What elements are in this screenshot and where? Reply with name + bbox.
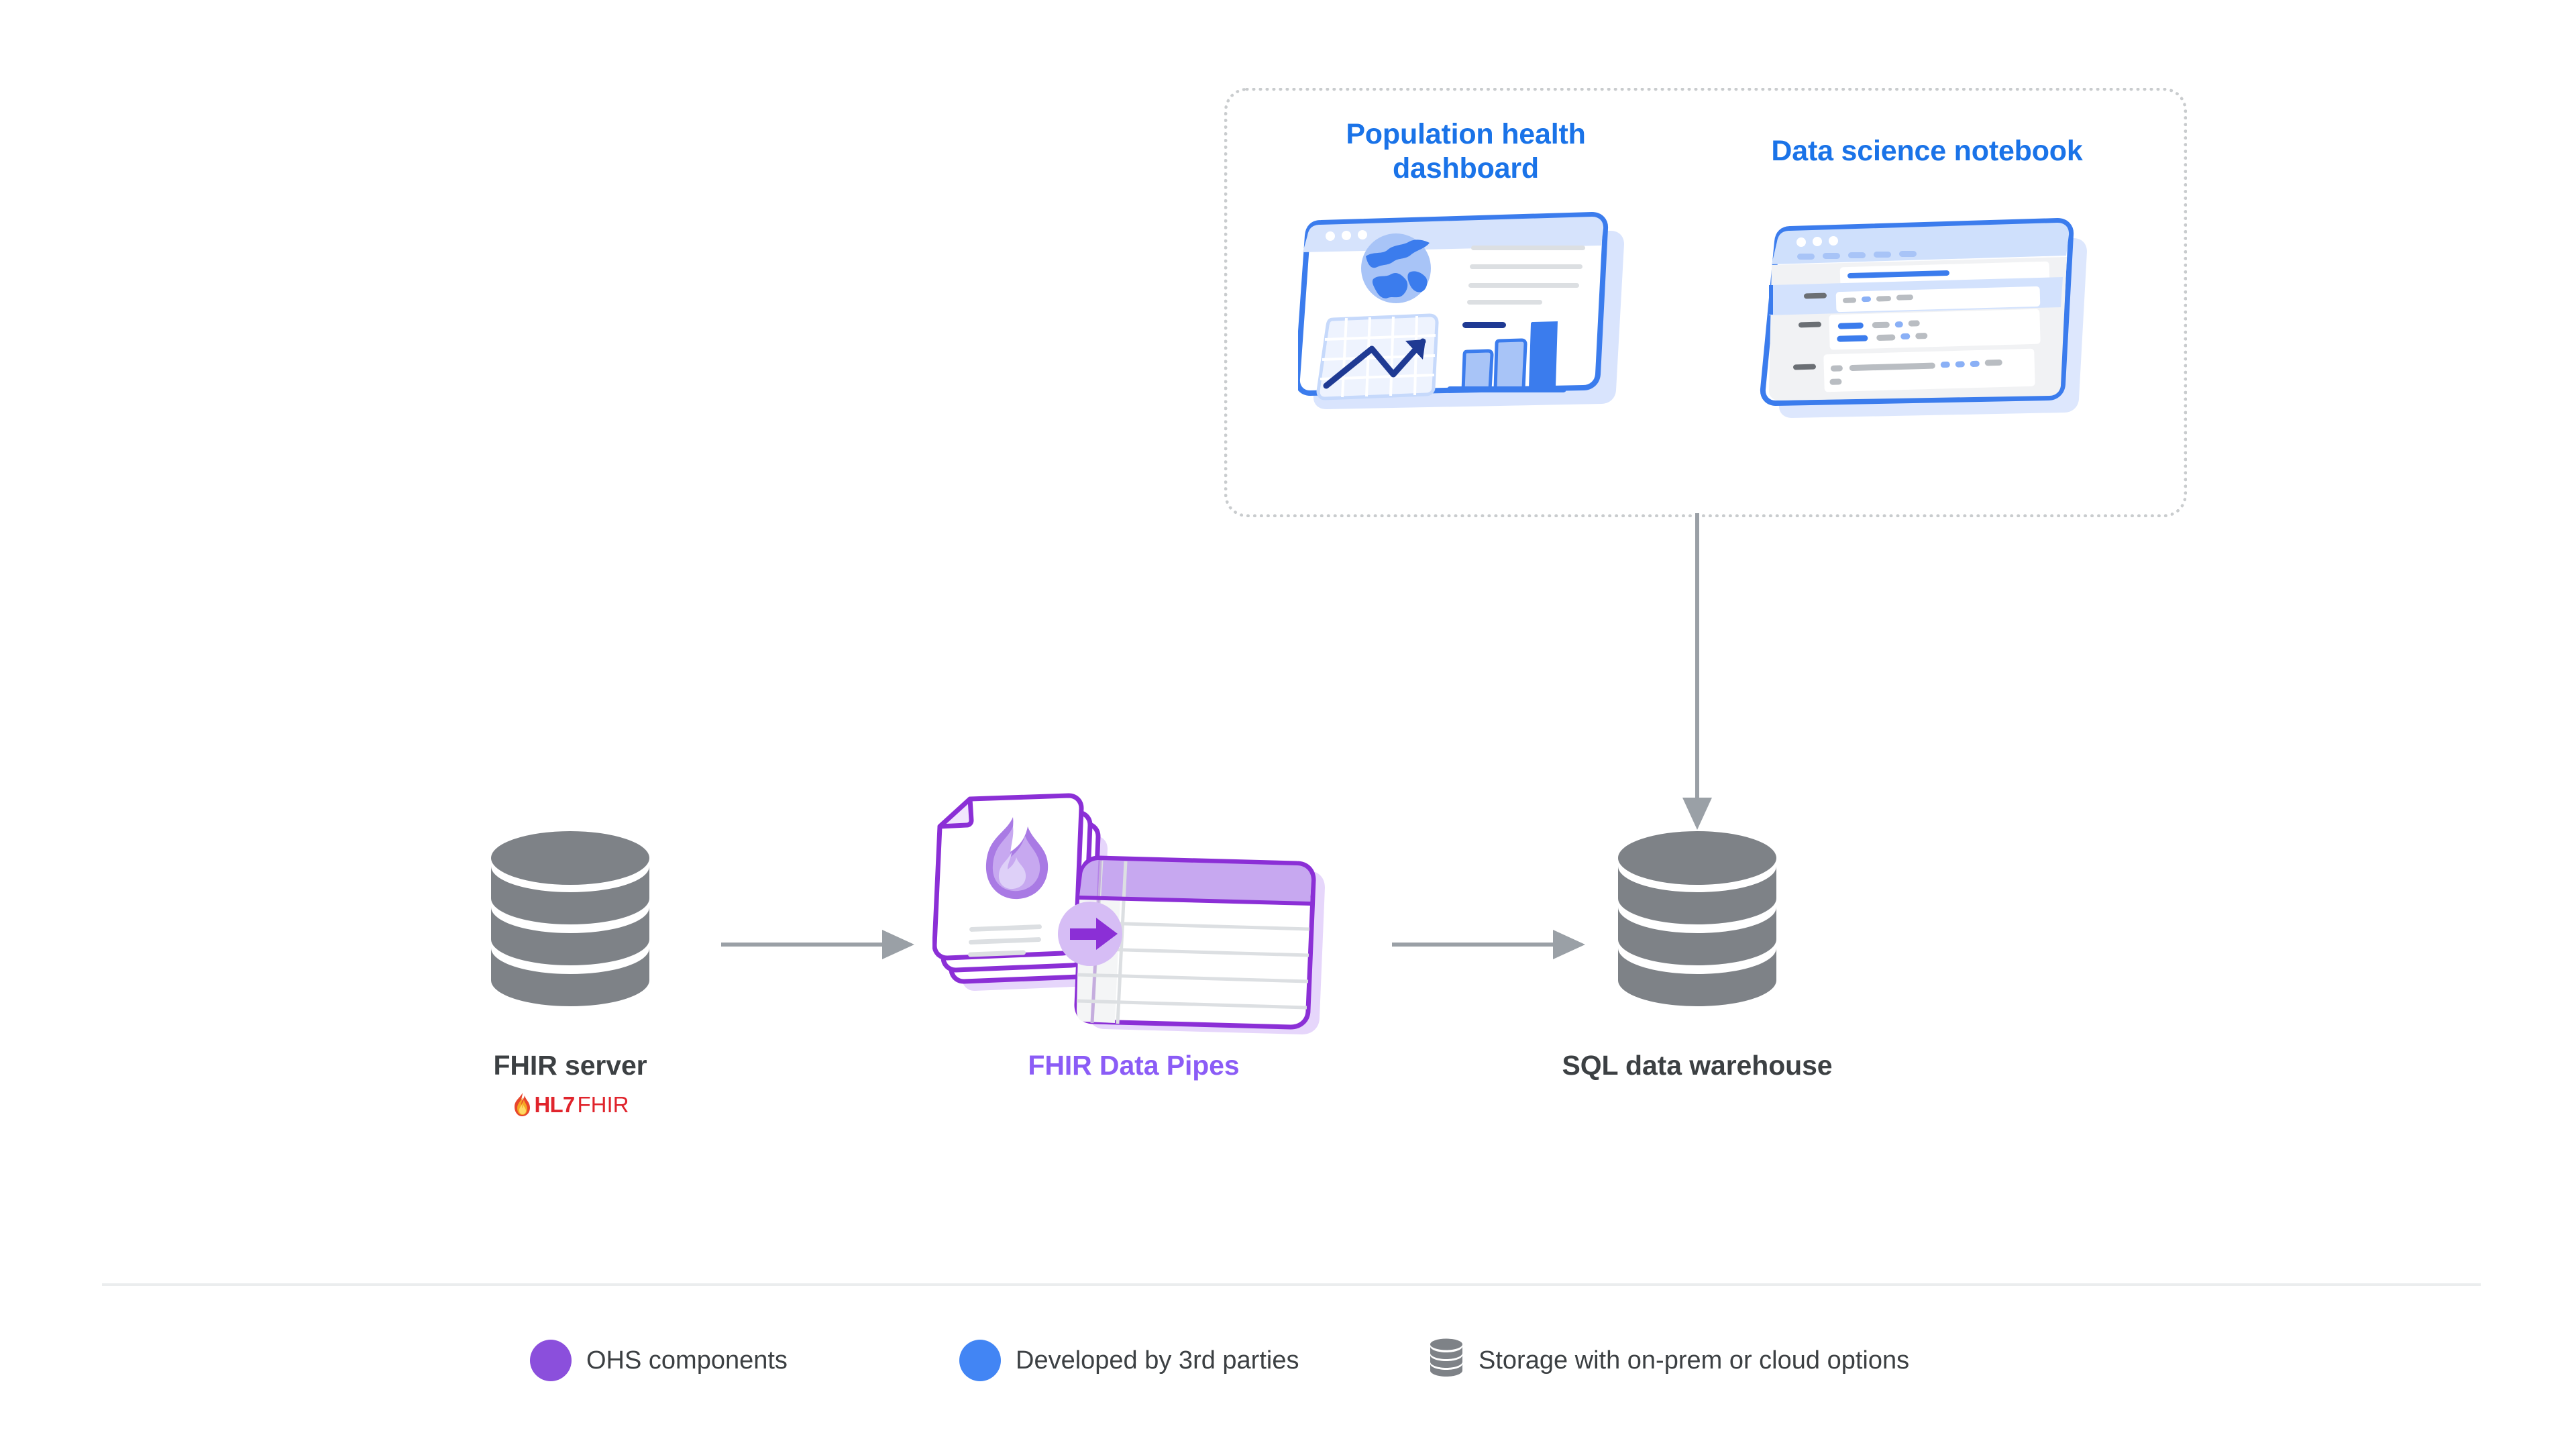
legend-label-storage: Storage with on-prem or cloud options <box>1479 1346 1909 1375</box>
globe-icon <box>1361 233 1431 303</box>
dashboard-illustration <box>1288 208 1644 416</box>
window-dot-1 <box>1796 237 1806 247</box>
arrow-fhir-server-to-data-pipes <box>721 924 916 968</box>
database-icon <box>1429 1338 1464 1383</box>
blue-dot-icon <box>959 1340 1001 1381</box>
hl7-wordmark: HL7 <box>535 1092 575 1118</box>
data-science-notebook-title: Data science notebook <box>1721 134 2133 168</box>
legend-label-ohs-components: OHS components <box>586 1346 788 1375</box>
window-dot-3 <box>1358 230 1367 239</box>
window-dot-2 <box>1813 237 1822 246</box>
fhir-wordmark: FHIR <box>577 1092 629 1118</box>
legend-label-third-parties: Developed by 3rd parties <box>1016 1346 1299 1375</box>
diagram-canvas: Population health dashboard <box>0 0 2576 1449</box>
population-health-dashboard[interactable]: Population health dashboard <box>1288 117 1644 416</box>
node-fhir-server[interactable]: FHIR server HL7FHIR <box>409 822 731 1118</box>
fhir-docs-to-table-icon <box>932 792 1335 1073</box>
flame-icon <box>512 1092 532 1118</box>
legend-item-ohs-components: OHS components <box>530 1340 959 1381</box>
doc-fold-corner <box>940 799 971 826</box>
transform-arrow-badge <box>1058 902 1122 966</box>
notebook-cell-4 <box>1792 348 2035 392</box>
purple-dot-icon <box>530 1340 572 1381</box>
window-dot-2 <box>1342 231 1351 240</box>
arrow-consumers-to-sql-warehouse <box>1670 513 1724 839</box>
legend-item-storage: Storage with on-prem or cloud options <box>1429 1338 1909 1383</box>
database-cylinder-icon <box>1613 828 1781 1036</box>
sql-data-warehouse-art <box>1536 822 1858 1043</box>
legend: OHS components Developed by 3rd parties … <box>530 1338 1909 1383</box>
node-sql-data-warehouse[interactable]: SQL data warehouse <box>1536 822 1858 1081</box>
window-dot-3 <box>1829 236 1838 246</box>
footer-divider <box>102 1283 2481 1286</box>
window-dot-1 <box>1326 231 1335 241</box>
table-header <box>1079 860 1311 902</box>
node-fhir-data-pipes[interactable]: FHIR Data Pipes <box>912 822 1355 1081</box>
population-health-dashboard-title: Population health dashboard <box>1288 117 1644 185</box>
node-sql-data-warehouse-label: SQL data warehouse <box>1536 1050 1858 1081</box>
database-cylinder-icon <box>486 828 654 1036</box>
legend-item-third-parties: Developed by 3rd parties <box>959 1340 1429 1381</box>
node-fhir-server-label: FHIR server <box>409 1050 731 1081</box>
hl7-fhir-logo: HL7FHIR <box>409 1092 731 1118</box>
fhir-server-art <box>409 822 731 1043</box>
data-science-notebook[interactable]: Data science notebook <box>1721 134 2133 423</box>
fhir-data-pipes-art <box>912 822 1355 1043</box>
notebook-cell-3 <box>1798 309 2040 350</box>
notebook-illustration <box>1721 215 2133 423</box>
line-chart-panel <box>1318 315 1437 398</box>
